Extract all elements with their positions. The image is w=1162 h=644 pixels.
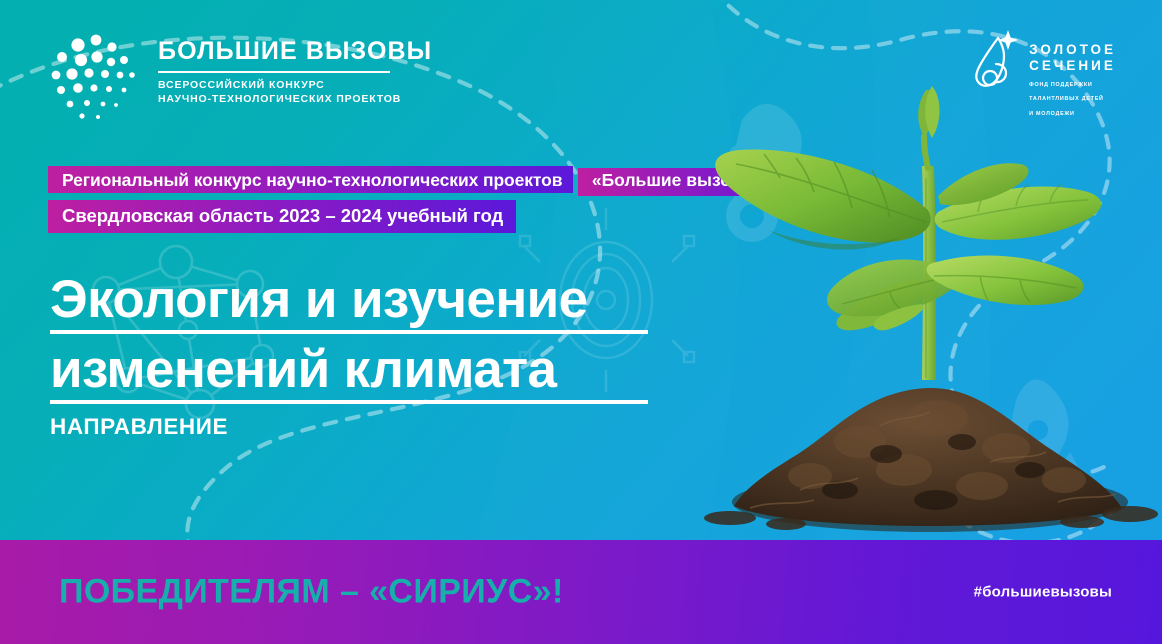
partner-logo-zolotoe-sechenie: ЗОЛОТОЕ СЕЧЕНИЕ ФОНД ПОДДЕРЖКИ ТАЛАНТЛИВ… [968, 28, 1116, 118]
badge-line-2: «Большие вызовы» [578, 168, 777, 196]
competition-badge: Региональный конкурс научно-технологичес… [48, 166, 1162, 233]
brand-title: БОЛЬШИЕ ВЫЗОВЫ [158, 39, 432, 64]
page-title: Экология и изучение изменений климата НА… [50, 272, 710, 440]
badge-line-1: Региональный конкурс научно-технологичес… [48, 166, 573, 193]
partner-subtitle-line2: ТАЛАНТЛИВЫХ ДЕТЕЙ [1029, 95, 1116, 103]
badge-line-3: Свердловская область 2023 – 2024 учебный… [48, 200, 516, 233]
partner-subtitle-line3: И МОЛОДЕЖИ [1029, 110, 1116, 118]
footer-bar: ПОБЕДИТЕЛЯМ – «СИРИУС»! #большиевызовы [0, 540, 1162, 644]
partner-subtitle-line1: ФОНД ПОДДЕРЖКИ [1029, 81, 1116, 89]
brand-subtitle-line2: НАУЧНО-ТЕХНОЛОГИЧЕСКИХ ПРОЕКТОВ [158, 93, 432, 107]
partner-title-line2: СЕЧЕНИЕ [1029, 58, 1116, 74]
poster-canvas: БОЛЬШИЕ ВЫЗОВЫ ВСЕРОССИЙСКИЙ КОНКУРС НАУ… [0, 0, 1162, 644]
dots-circle-logo [48, 28, 144, 124]
rocket-star-logo [968, 28, 1020, 92]
brand-logo-bolshie-vyzovy: БОЛЬШИЕ ВЫЗОВЫ ВСЕРОССИЙСКИЙ КОНКУРС НАУ… [48, 28, 432, 124]
footer-hashtag: #большиевызовы [974, 584, 1112, 601]
title-line-1: Экология и изучение [50, 272, 648, 334]
seedling-in-soil-image [690, 50, 1162, 545]
title-kicker: НАПРАВЛЕНИЕ [50, 414, 710, 440]
brand-subtitle-line1: ВСЕРОССИЙСКИЙ КОНКУРС [158, 79, 432, 93]
title-line-2: изменений климата [50, 342, 648, 404]
rocket-watermark [992, 379, 1086, 485]
brand-divider [158, 71, 390, 73]
footer-slogan: ПОБЕДИТЕЛЯМ – «СИРИУС»! [59, 573, 564, 612]
partner-title-line1: ЗОЛОТОЕ [1029, 42, 1116, 58]
